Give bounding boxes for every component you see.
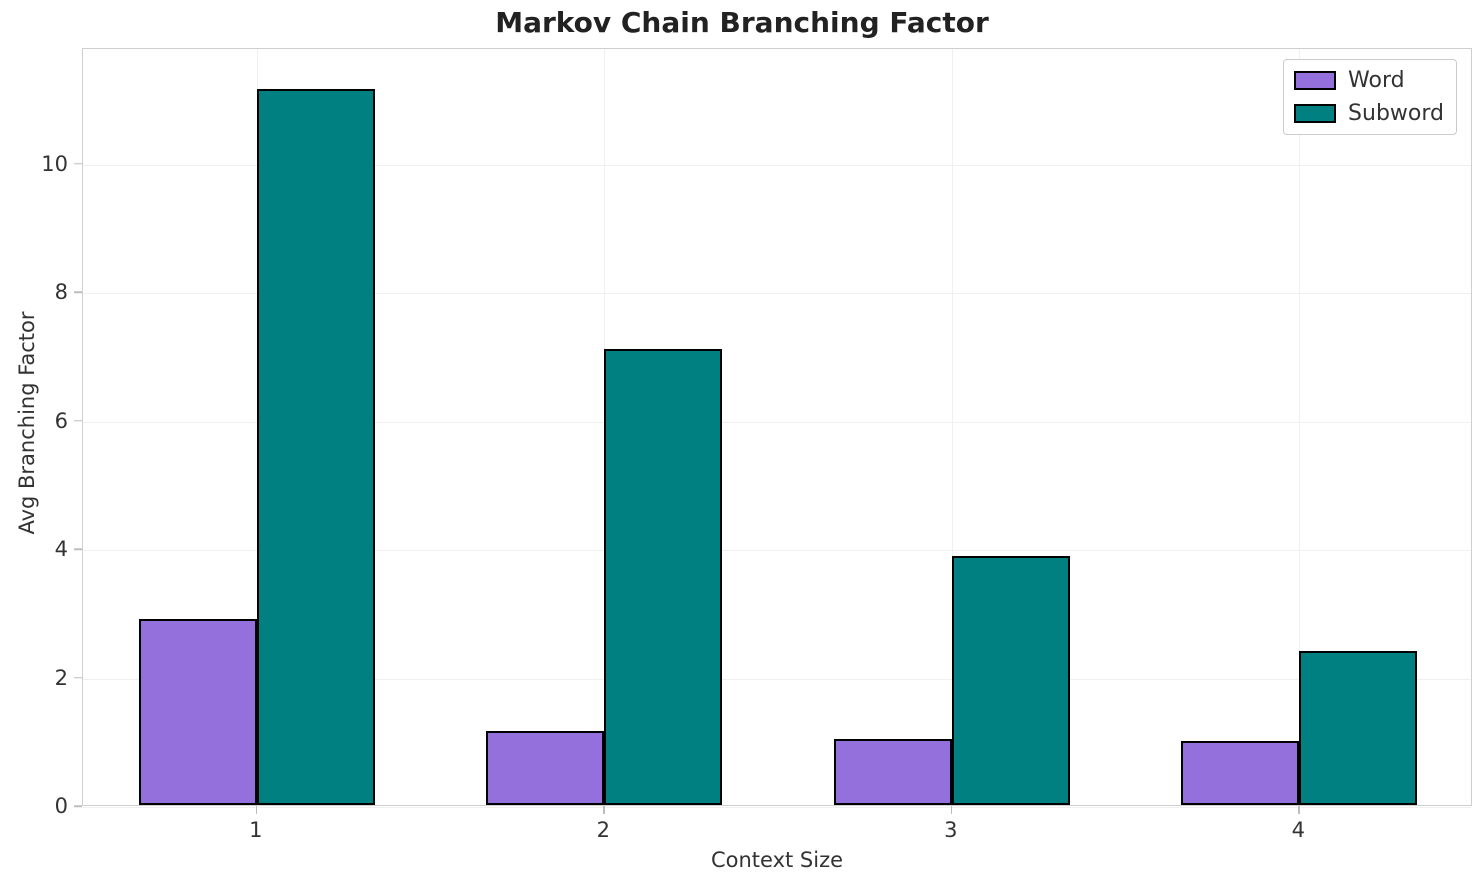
chart-figure: Markov Chain Branching Factor Word Subwo… <box>0 0 1484 885</box>
y-axis-label: Avg Branching Factor <box>15 213 39 633</box>
y-axis-ticks: 0246810 <box>0 48 1484 806</box>
x-tick-label: 2 <box>563 818 643 842</box>
y-tick-mark <box>74 291 82 293</box>
x-tick-mark <box>951 806 953 814</box>
x-tick-label: 4 <box>1258 818 1338 842</box>
chart-title: Markov Chain Branching Factor <box>0 6 1484 39</box>
gridline <box>83 807 1471 808</box>
y-tick-mark <box>74 163 82 165</box>
y-tick-label: 10 <box>0 152 68 176</box>
x-axis-label: Context Size <box>82 848 1472 872</box>
y-tick-mark <box>74 805 82 807</box>
x-tick-mark <box>1298 806 1300 814</box>
x-axis-ticks: 1234 <box>82 812 1472 852</box>
y-tick-mark <box>74 677 82 679</box>
y-tick-mark <box>74 548 82 550</box>
y-tick-label: 0 <box>0 794 68 818</box>
x-tick-mark <box>256 806 258 814</box>
x-tick-label: 3 <box>911 818 991 842</box>
y-tick-mark <box>74 420 82 422</box>
y-tick-label: 2 <box>0 666 68 690</box>
x-tick-mark <box>603 806 605 814</box>
x-tick-label: 1 <box>216 818 296 842</box>
